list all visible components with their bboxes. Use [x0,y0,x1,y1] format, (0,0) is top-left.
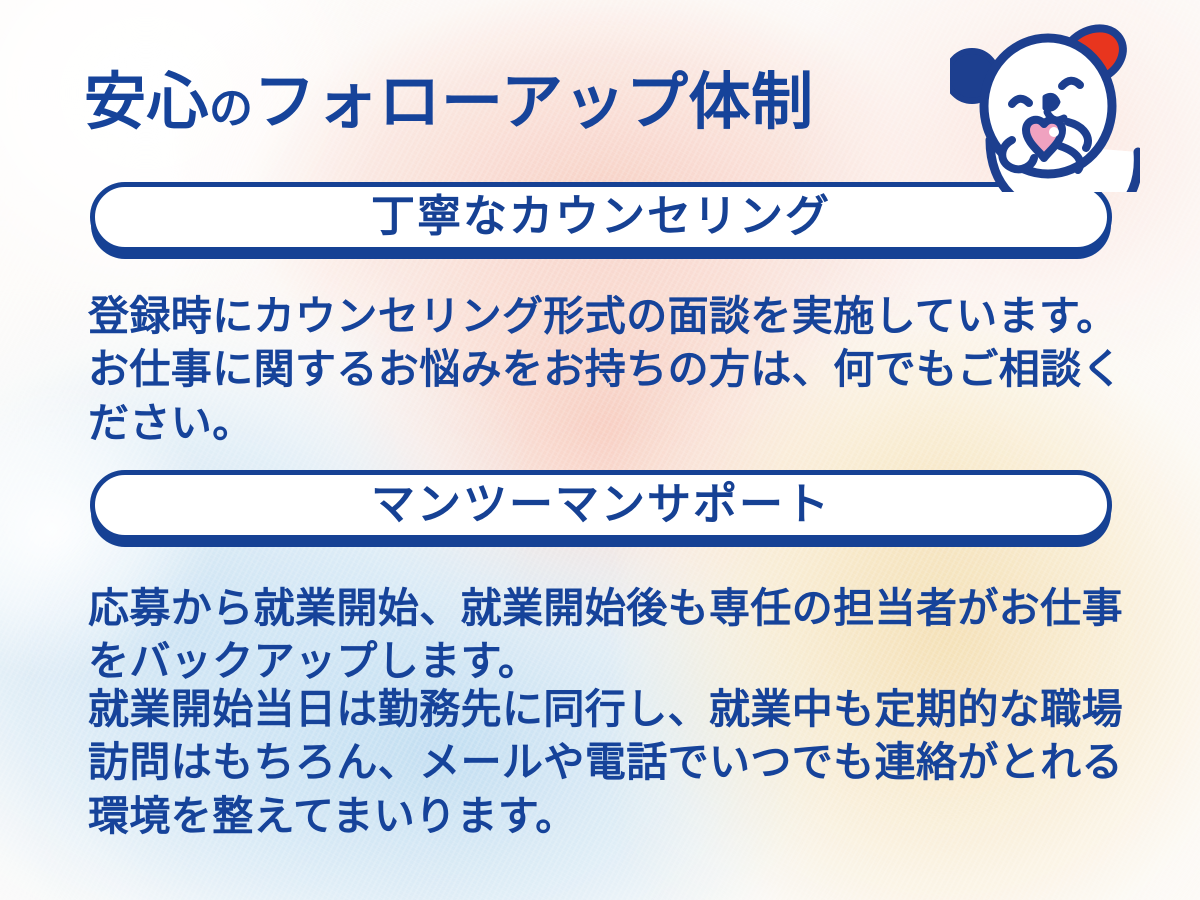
section-body-support-1: 応募から就業開始、就業開始後も専任の担当者がお仕事をバックアップします。 [88,582,1128,689]
page-title-lead: 安心 [84,68,209,137]
section-heading-pill-counseling: 丁寧なカウンセリング [90,182,1112,252]
section-heading-label: マンツーマンサポート [371,483,831,527]
page-title: 安心のフォローアップ体制 [84,72,924,134]
section-heading-pill-support: マンツーマンサポート [90,470,1112,540]
muzzle-icon [1045,95,1058,109]
poster-canvas: 安心のフォローアップ体制 丁寧なカウンセリング 登録時にカウンセリング形式の面談… [0,0,1200,900]
heart-highlight-icon [1049,127,1059,137]
page-title-tail: フォローアップ体制 [254,68,814,137]
section-heading-label: 丁寧なカウンセリング [371,195,831,239]
section-body-support-2: 就業開始当日は勤務先に同行し、就業中も定期的な職場訪問はもちろん、メールや電話で… [88,683,1128,843]
wash-white-topleft [0,0,380,300]
bear-mascot-holding-heart [950,12,1140,192]
page-title-particle: の [209,84,254,133]
section-body-counseling: 登録時にカウンセリング形式の面談を実施しています。お仕事に関するお悩みをお持ちの… [88,290,1128,450]
